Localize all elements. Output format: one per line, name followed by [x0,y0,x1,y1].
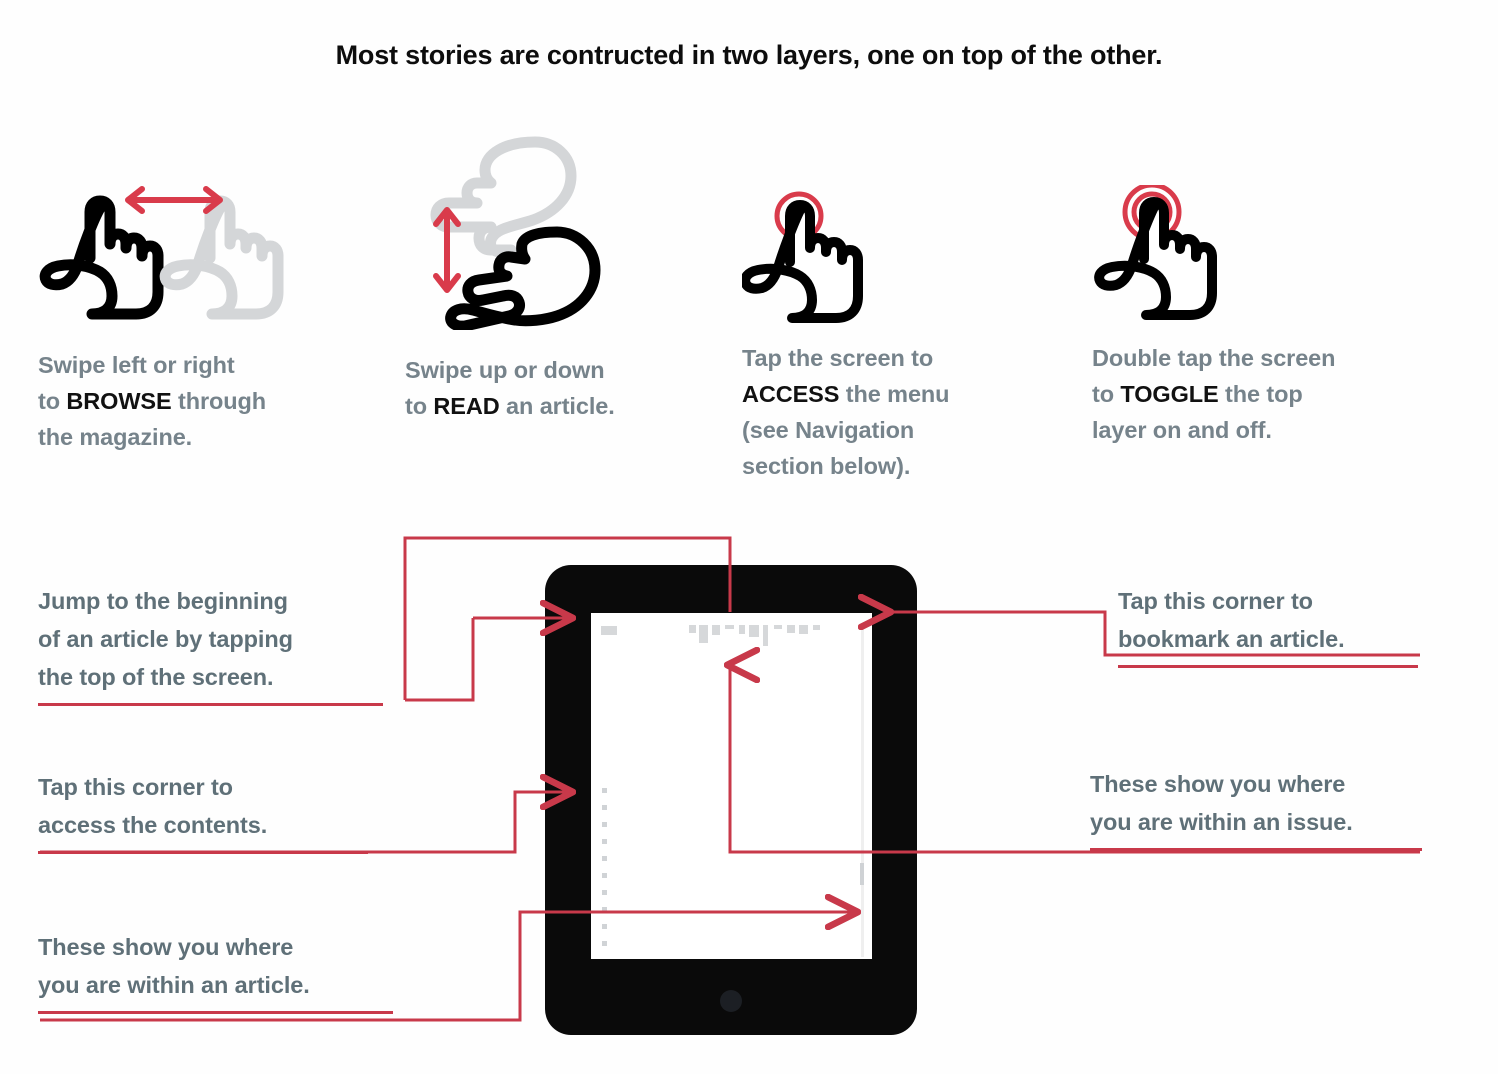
position-dot [602,873,607,878]
issue-position-scrollbar-thumb[interactable] [860,863,864,885]
caption-line-2-post: through [172,388,266,414]
position-dot [602,839,607,844]
single-tap-hand-icon [742,190,1042,320]
callout-underline [38,703,383,706]
caption-line-2-post: the top [1219,381,1303,407]
article-position-dots[interactable] [602,788,607,958]
caption-keyword: BROWSE [66,388,171,414]
callout-line-1: Tap this corner to [1118,582,1418,620]
caption-keyword: ACCESS [742,381,839,407]
caption-keyword: TOGGLE [1120,381,1218,407]
caption-line-1: Swipe up or down [405,352,705,388]
callout-line-2: of an article by tapping [38,620,383,658]
swipe-horizontal-hand-icon [38,160,358,335]
caption-line-3: (see Navigation [742,412,1042,448]
double-tap-hand-icon [1092,185,1432,320]
gesture-caption-swipe-vertical: Swipe up or down to READ an article. [405,352,705,424]
gesture-caption-swipe-horizontal: Swipe left or right to BROWSE through th… [38,347,358,455]
gesture-caption-double-tap: Double tap the screen to TOGGLE the top … [1092,340,1432,448]
tablet-illustration [545,565,917,1035]
leader-jump-branch [405,618,473,700]
position-dot [602,941,607,946]
callout-bookmark: Tap this corner to bookmark an article. [1118,582,1418,668]
position-dot [602,822,607,827]
caption-line-1: Swipe left or right [38,347,358,383]
callout-line-2: bookmark an article. [1118,620,1418,658]
position-dot [602,788,607,793]
callout-jump-to-beginning: Jump to the beginning of an article by t… [38,582,383,706]
gesture-block-double-tap: Double tap the screen to TOGGLE the top … [1092,185,1432,448]
caption-line-3: layer on and off. [1092,412,1432,448]
callout-position-in-article: These show you where you are within an a… [38,928,393,1014]
callout-line-1: These show you where [38,928,393,966]
callout-underline [38,851,368,854]
double-tap-hand-svg [1092,185,1282,325]
callout-line-1: Tap this corner to [38,768,368,806]
callout-underline [38,1011,393,1014]
swipe-vertical-hand-svg [405,130,635,330]
position-dot [602,805,607,810]
caption-line-3: the magazine. [38,419,358,455]
position-dot [602,890,607,895]
callout-line-2: access the contents. [38,806,368,844]
callout-position-in-issue: These show you where you are within an i… [1090,765,1422,851]
caption-line-2-pre: to [1092,381,1120,407]
screen-header-placeholder-blocks [591,623,872,649]
caption-line-1: Tap the screen to [742,340,1042,376]
caption-line-4: section below). [742,448,1042,484]
caption-line-2-pre: to [405,393,433,419]
caption-line-1: Double tap the screen [1092,340,1432,376]
callout-line-3: the top of the screen. [38,658,383,696]
caption-line-2: ACCESS the menu [742,376,1042,412]
page-title: Most stories are contructed in two layer… [0,40,1498,71]
gesture-caption-single-tap: Tap the screen to ACCESS the menu (see N… [742,340,1042,484]
callout-tap-contents: Tap this corner to access the contents. [38,768,368,854]
tablet-screen[interactable] [591,613,872,959]
callout-line-2: you are within an article. [38,966,393,1004]
callout-underline [1090,848,1422,851]
position-dot [602,856,607,861]
gesture-block-single-tap: Tap the screen to ACCESS the menu (see N… [742,190,1042,484]
swipe-horizontal-hand-svg [38,160,298,330]
caption-line-2-pre: to [38,388,66,414]
caption-line-2: to TOGGLE the top [1092,376,1432,412]
callout-line-1: These show you where [1090,765,1422,803]
position-dot [602,907,607,912]
home-button[interactable] [720,990,742,1012]
swipe-vertical-hand-icon [405,130,705,330]
caption-keyword: READ [433,393,499,419]
issue-position-scrollbar-track[interactable] [861,627,864,957]
caption-line-2-post: an article. [500,393,615,419]
caption-line-2: to READ an article. [405,388,705,424]
callout-line-1: Jump to the beginning [38,582,383,620]
infographic-page: Most stories are contructed in two layer… [0,0,1498,1074]
gesture-block-swipe-vertical: Swipe up or down to READ an article. [405,130,705,424]
callout-line-2: you are within an issue. [1090,803,1422,841]
callout-underline [1118,665,1418,668]
caption-line-2-post: the menu [839,381,949,407]
position-dot [602,924,607,929]
single-tap-hand-svg [742,190,922,325]
caption-line-2: to BROWSE through [38,383,358,419]
gesture-block-swipe-horizontal: Swipe left or right to BROWSE through th… [38,160,358,455]
